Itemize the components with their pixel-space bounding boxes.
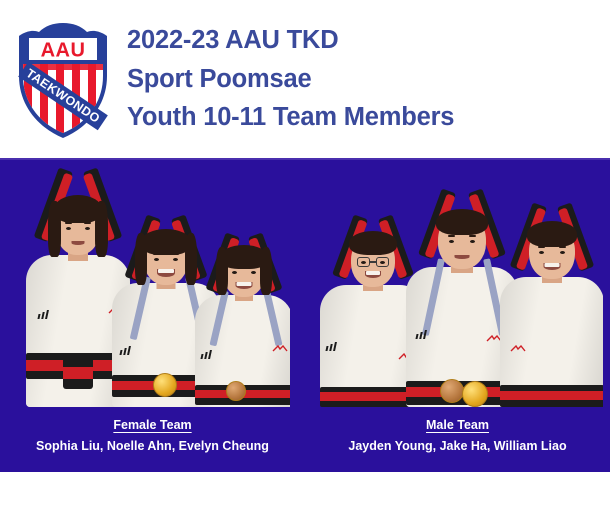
eye-left	[66, 227, 71, 230]
title-block: 2022-23 AAU TKD Sport Poomsae Youth 10-1…	[125, 21, 454, 137]
male-team-photo	[318, 158, 603, 407]
adidas-logo	[326, 342, 338, 351]
mouth	[455, 255, 470, 259]
aau-taekwondo-shield-logo: AAU TAEKWONDO	[13, 18, 113, 140]
purple-content-band: Female Team Sophia Liu, Noelle Ahn, Evel…	[0, 158, 610, 472]
teeth	[237, 282, 252, 286]
belt-knot	[63, 353, 93, 389]
adidas-logo	[38, 310, 50, 319]
gold-medal	[462, 381, 488, 407]
eye-left	[449, 240, 454, 243]
eye-right	[251, 271, 256, 274]
mouth	[72, 241, 85, 245]
world-taekwondo-logo	[510, 345, 526, 353]
title-line-3: Youth 10-11 Team Members	[127, 98, 454, 137]
eye-right	[560, 251, 565, 254]
eye-left	[154, 258, 159, 261]
hair-right-side	[95, 201, 108, 257]
logo-container: AAU TAEKWONDO	[0, 0, 125, 158]
captions-row: Female Team Sophia Liu, Noelle Ahn, Evel…	[0, 407, 610, 472]
world-taekwondo-logo	[272, 345, 288, 353]
female-team-names: Sophia Liu, Noelle Ahn, Evelyn Cheung	[0, 439, 305, 453]
footer-whitespace	[0, 472, 610, 511]
hair	[527, 221, 577, 247]
adidas-logo	[201, 350, 213, 359]
poster: AAU TAEKWONDO	[0, 0, 610, 511]
eye-left	[361, 261, 366, 264]
photos-row	[0, 158, 610, 407]
female-team-caption: Female Team Sophia Liu, Noelle Ahn, Evel…	[0, 407, 305, 453]
bronze-medal	[440, 379, 464, 403]
female-person-right	[192, 235, 290, 407]
female-team-photo	[14, 158, 290, 407]
adidas-logo	[416, 330, 428, 339]
title-line-1: 2022-23 AAU TKD	[127, 21, 454, 60]
belt-black	[500, 385, 603, 407]
eye-right	[470, 240, 475, 243]
eye-right	[173, 258, 178, 261]
male-person-right	[498, 205, 603, 407]
hair-right-side	[260, 247, 272, 295]
hair	[436, 209, 488, 235]
eye-right	[85, 227, 90, 230]
bronze-medal	[226, 381, 246, 401]
adidas-logo	[120, 346, 132, 355]
teeth	[366, 271, 380, 275]
hair-left-side	[135, 233, 147, 285]
male-team-title: Male Team	[426, 418, 489, 432]
hair-left-side	[216, 247, 228, 295]
female-team-title: Female Team	[113, 418, 191, 432]
eyebrow-left	[448, 235, 455, 237]
eye-left	[232, 271, 237, 274]
male-team-caption: Male Team Jayden Young, Jake Ha, William…	[305, 407, 610, 453]
eye-left	[539, 251, 544, 254]
hair	[141, 229, 191, 255]
aau-logo-text: AAU	[40, 40, 85, 62]
eyebrow-right	[469, 235, 476, 237]
gold-medal	[153, 373, 177, 397]
hair-left-side	[48, 201, 61, 257]
belt-knot-red	[63, 367, 93, 379]
header: AAU TAEKWONDO	[0, 0, 610, 158]
belt-red-stripe	[500, 391, 603, 400]
teeth	[158, 269, 174, 273]
male-team-names: Jayden Young, Jake Ha, William Liao	[305, 439, 610, 453]
teeth	[545, 263, 560, 267]
title-line-2: Sport Poomsae	[127, 60, 454, 99]
eye-right	[380, 261, 385, 264]
hair	[349, 231, 397, 255]
